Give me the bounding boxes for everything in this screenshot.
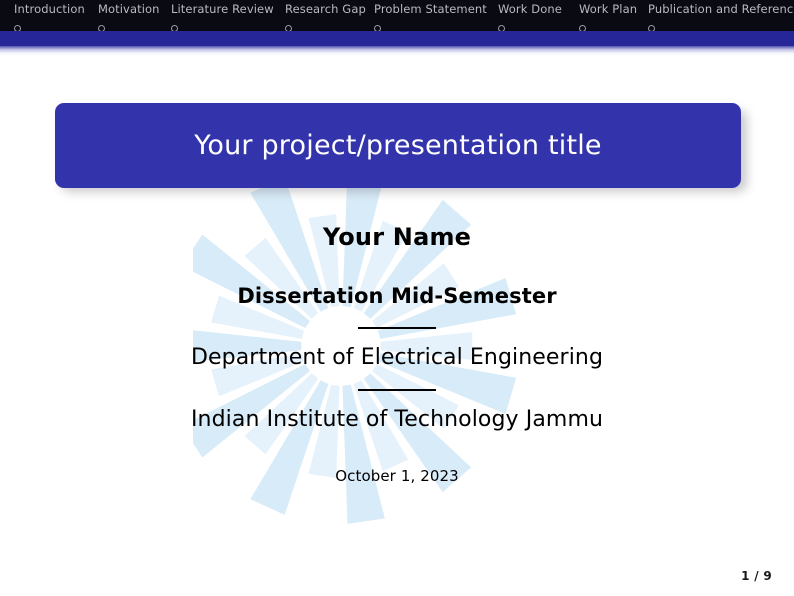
nav-section-work-done[interactable]: Work Done — [498, 0, 562, 30]
presentation-title: Your project/presentation title — [194, 130, 602, 161]
nav-section-work-plan[interactable]: Work Plan — [579, 0, 637, 30]
separator-rule-2 — [358, 389, 436, 391]
nav-section-publication-and-references[interactable]: Publication and References — [648, 0, 794, 30]
department-name: Department of Electrical Engineering — [0, 344, 794, 372]
presentation-date: October 1, 2023 — [0, 466, 794, 486]
navigation-rule — [0, 31, 794, 46]
nav-section-problem-statement[interactable]: Problem Statement — [374, 0, 487, 30]
nav-section-research-gap[interactable]: Research Gap — [285, 0, 366, 30]
nav-section-introduction[interactable]: Introduction — [14, 0, 85, 30]
nav-frame-dots — [579, 17, 637, 30]
separator-rule-1 — [358, 327, 436, 329]
presentation-slide: IntroductionMotivationLiterature ReviewR… — [0, 0, 794, 596]
nav-section-label: Introduction — [14, 0, 85, 17]
navigation-rule-fade — [0, 46, 794, 56]
nav-section-label: Problem Statement — [374, 0, 487, 17]
nav-section-label: Publication and References — [648, 0, 794, 17]
university-name: Indian Institute of Technology Jammu — [0, 406, 794, 434]
nav-section-label: Work Done — [498, 0, 562, 17]
nav-section-label: Motivation — [98, 0, 160, 17]
author-name: Your Name — [0, 222, 794, 252]
page-number: 1 / 9 — [741, 569, 772, 583]
nav-frame-dots — [98, 17, 160, 30]
nav-section-label: Work Plan — [579, 0, 637, 17]
presentation-subtitle: Dissertation Mid-Semester — [0, 283, 794, 309]
nav-frame-dots — [171, 17, 274, 30]
nav-frame-dots — [648, 17, 794, 30]
nav-frame-dots — [374, 17, 487, 30]
nav-frame-dots — [285, 17, 366, 30]
nav-section-label: Research Gap — [285, 0, 366, 17]
nav-section-motivation[interactable]: Motivation — [98, 0, 160, 30]
nav-frame-dots — [498, 17, 562, 30]
nav-section-label: Literature Review — [171, 0, 274, 17]
nav-section-literature-review[interactable]: Literature Review — [171, 0, 274, 30]
nav-frame-dots — [14, 17, 85, 30]
title-info-block: Your Name Dissertation Mid-Semester Depa… — [0, 222, 794, 486]
title-box: Your project/presentation title — [55, 103, 741, 188]
navigation-bar: IntroductionMotivationLiterature ReviewR… — [0, 0, 794, 31]
